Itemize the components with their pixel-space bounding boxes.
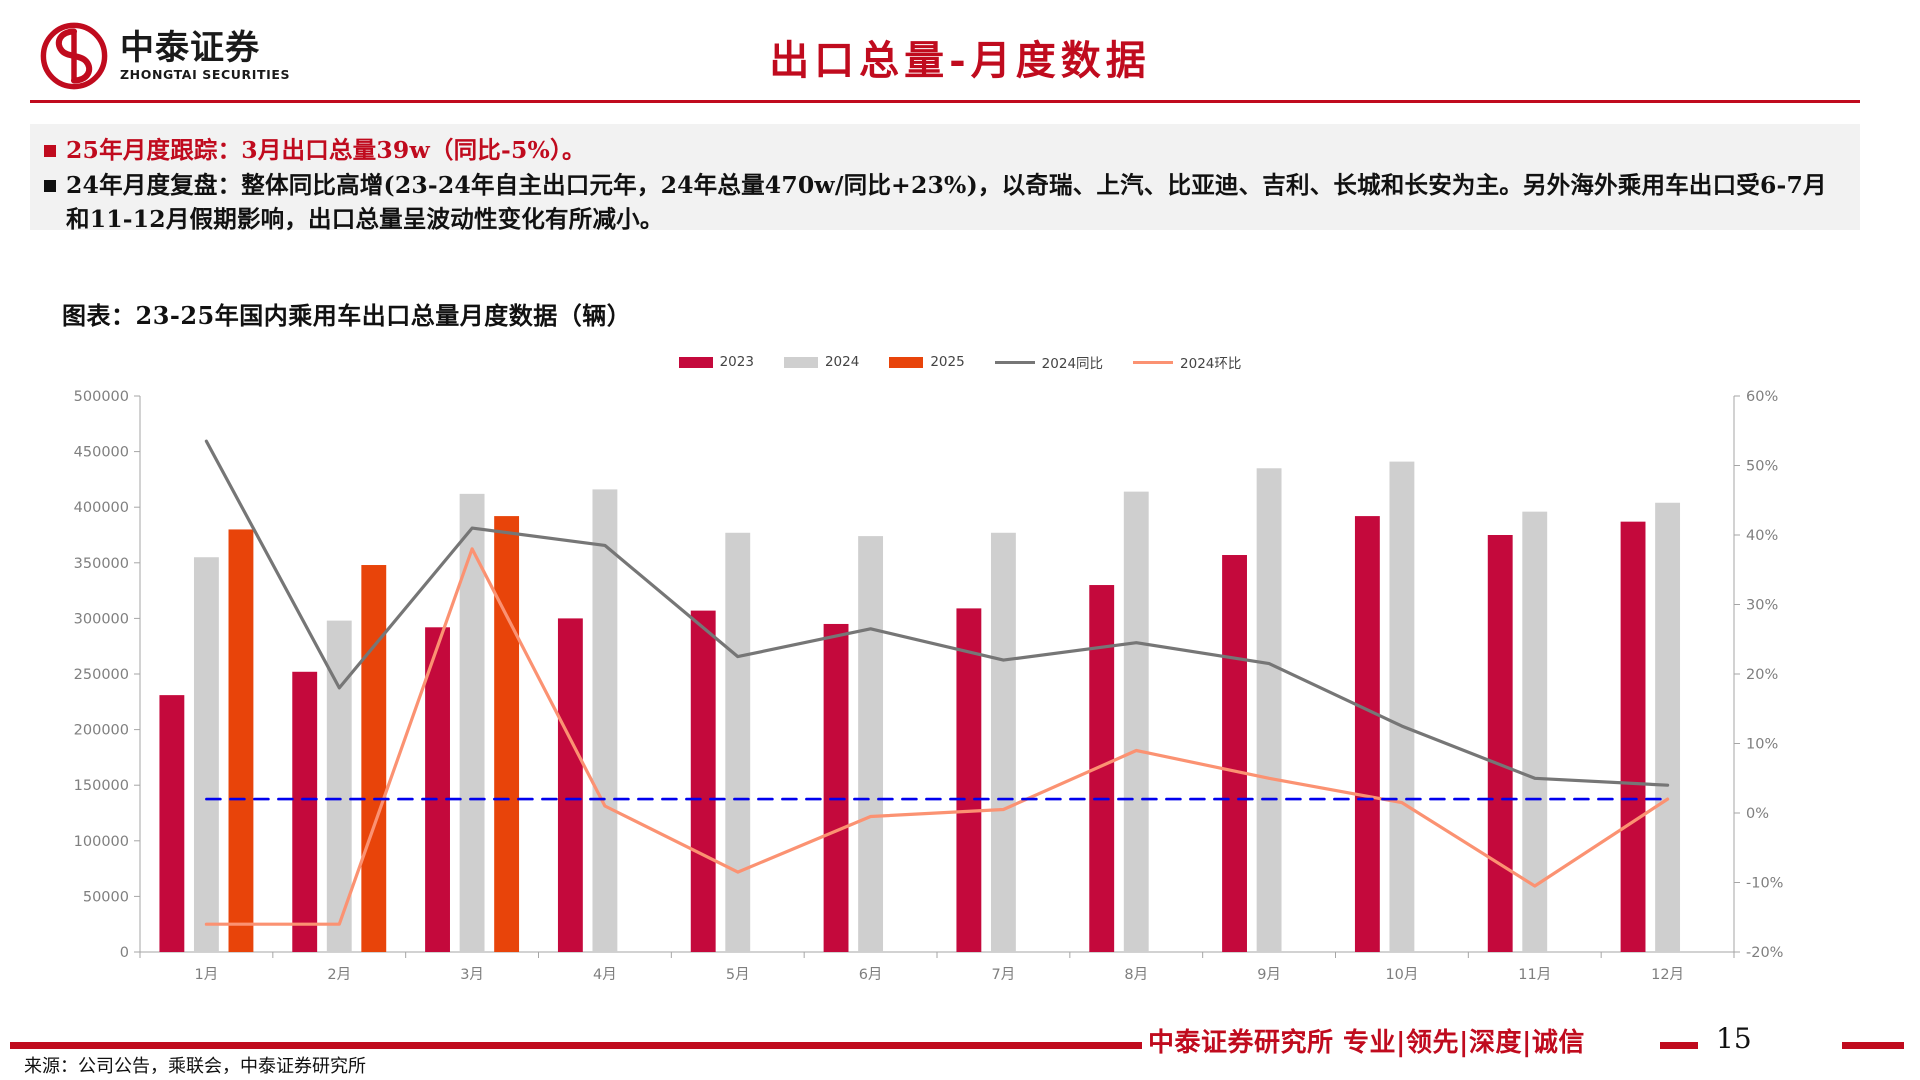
figure-caption: 图表：23-25年国内乘用车出口总量月度数据（辆）	[62, 296, 631, 331]
footer-dash-right	[1842, 1042, 1904, 1049]
chart-bar	[494, 516, 519, 952]
legend-line-yoy	[995, 361, 1035, 364]
chart-bar	[159, 695, 184, 952]
x-axis-tick-label: 10月	[1385, 967, 1418, 983]
chart-bar	[592, 489, 617, 952]
chart-bar	[1488, 535, 1513, 952]
black-square-bullet-icon	[44, 180, 56, 192]
chart-bar	[425, 627, 450, 952]
y2-axis-tick-label: 10%	[1746, 737, 1778, 753]
chart-bar	[1222, 555, 1247, 952]
x-axis-tick-label: 9月	[1257, 967, 1281, 983]
chart-bar	[1355, 516, 1380, 952]
slide-page: { "brand": { "logo_cn": "中泰证券", "logo_en…	[0, 0, 1920, 1080]
chart-bar	[229, 529, 254, 952]
page-number: 15	[1716, 1022, 1752, 1055]
summary-bullet-2-text: 24年月度复盘：整体同比高增(23-24年自主出口元年，24年总量470w/同比…	[66, 169, 1844, 236]
x-axis-tick-label: 2月	[327, 967, 351, 983]
legend-item-2023[interactable]: 2023	[679, 354, 754, 370]
legend-swatch-2024	[784, 357, 818, 368]
y2-axis-tick-label: 30%	[1746, 598, 1778, 614]
x-axis-tick-label: 6月	[859, 967, 883, 983]
x-axis-tick-label: 4月	[593, 967, 617, 983]
chart-bar	[691, 611, 716, 952]
chart-bar	[361, 565, 386, 952]
chart-canvas: 0500001000001500002000002500003000003500…	[42, 382, 1842, 998]
y2-axis-tick-label: 40%	[1746, 528, 1778, 544]
source-note: 来源：公司公告，乘联会，中泰证券研究所	[24, 1052, 366, 1078]
legend-item-mom[interactable]: 2024环比	[1133, 352, 1241, 372]
chart-bar	[858, 536, 883, 952]
chart-bar	[1621, 522, 1646, 952]
y-axis-tick-label: 450000	[74, 445, 129, 461]
footer-brand-text: 中泰证券研究所 专业|领先|深度|诚信	[1148, 1022, 1585, 1059]
summary-bullet-1: 25年月度跟踪：3月出口总量39w（同比-5%）。	[44, 134, 1844, 167]
chart-bar	[956, 608, 981, 952]
y2-axis-tick-label: 0%	[1746, 806, 1769, 822]
x-axis-tick-label: 11月	[1518, 967, 1551, 983]
legend-label-2023: 2023	[720, 354, 754, 370]
y2-axis-tick-label: -10%	[1746, 876, 1783, 892]
chart-bar	[991, 533, 1016, 952]
x-axis-tick-label: 7月	[992, 967, 1016, 983]
legend-swatch-2023	[679, 357, 713, 368]
legend-item-2025[interactable]: 2025	[889, 354, 964, 370]
chart-bar	[1389, 462, 1414, 952]
legend-label-2025: 2025	[930, 354, 964, 370]
y-axis-tick-label: 500000	[74, 389, 129, 405]
y2-axis-tick-label: 50%	[1746, 459, 1778, 475]
legend-swatch-2025	[889, 357, 923, 368]
chart-bar	[824, 624, 849, 952]
x-axis-tick-label: 1月	[195, 967, 219, 983]
chart-bar	[292, 672, 317, 952]
y-axis-tick-label: 150000	[74, 778, 129, 794]
y-axis-tick-label: 400000	[74, 500, 129, 516]
chart-bar	[1655, 503, 1680, 952]
footer-rule-left	[10, 1042, 1142, 1049]
y2-axis-tick-label: 60%	[1746, 389, 1778, 405]
legend-label-2024: 2024	[825, 354, 859, 370]
y-axis-tick-label: 0	[120, 945, 129, 961]
y2-axis-tick-label: -20%	[1746, 945, 1783, 961]
x-axis-tick-label: 8月	[1124, 967, 1148, 983]
y-axis-tick-label: 250000	[74, 667, 129, 683]
legend-item-2024[interactable]: 2024	[784, 354, 859, 370]
legend-label-mom: 2024环比	[1180, 352, 1241, 372]
y-axis-tick-label: 350000	[74, 556, 129, 572]
legend-label-yoy: 2024同比	[1042, 352, 1103, 372]
y-axis-tick-label: 100000	[74, 834, 129, 850]
footer-dash-left	[1660, 1042, 1698, 1049]
x-axis-tick-label: 3月	[460, 967, 484, 983]
page-title: 出口总量-月度数据	[0, 28, 1920, 86]
chart-bar	[1124, 492, 1149, 952]
x-axis-tick-label: 5月	[726, 967, 750, 983]
y-axis-tick-label: 300000	[74, 611, 129, 627]
chart-bar	[725, 533, 750, 952]
x-axis-tick-label: 12月	[1651, 967, 1684, 983]
title-divider	[30, 100, 1860, 103]
chart-legend: 2023 2024 2025 2024同比 2024环比	[0, 352, 1920, 372]
summary-bullet-2: 24年月度复盘：整体同比高增(23-24年自主出口元年，24年总量470w/同比…	[44, 169, 1844, 236]
summary-bullet-1-text: 25年月度跟踪：3月出口总量39w（同比-5%）。	[66, 134, 586, 167]
legend-line-mom	[1133, 361, 1173, 364]
red-square-bullet-icon	[44, 145, 56, 157]
y-axis-tick-label: 200000	[74, 723, 129, 739]
chart-bar	[558, 618, 583, 952]
slide-header: 中泰证券 ZHONGTAI SECURITIES 出口总量-月度数据	[0, 0, 1920, 112]
summary-box: 25年月度跟踪：3月出口总量39w（同比-5%）。 24年月度复盘：整体同比高增…	[30, 124, 1860, 230]
chart-bar	[1257, 468, 1282, 952]
y2-axis-tick-label: 20%	[1746, 667, 1778, 683]
chart-bar	[194, 557, 219, 952]
legend-item-yoy[interactable]: 2024同比	[995, 352, 1103, 372]
export-volume-chart: 0500001000001500002000002500003000003500…	[42, 382, 1842, 998]
y-axis-tick-label: 50000	[83, 889, 129, 905]
